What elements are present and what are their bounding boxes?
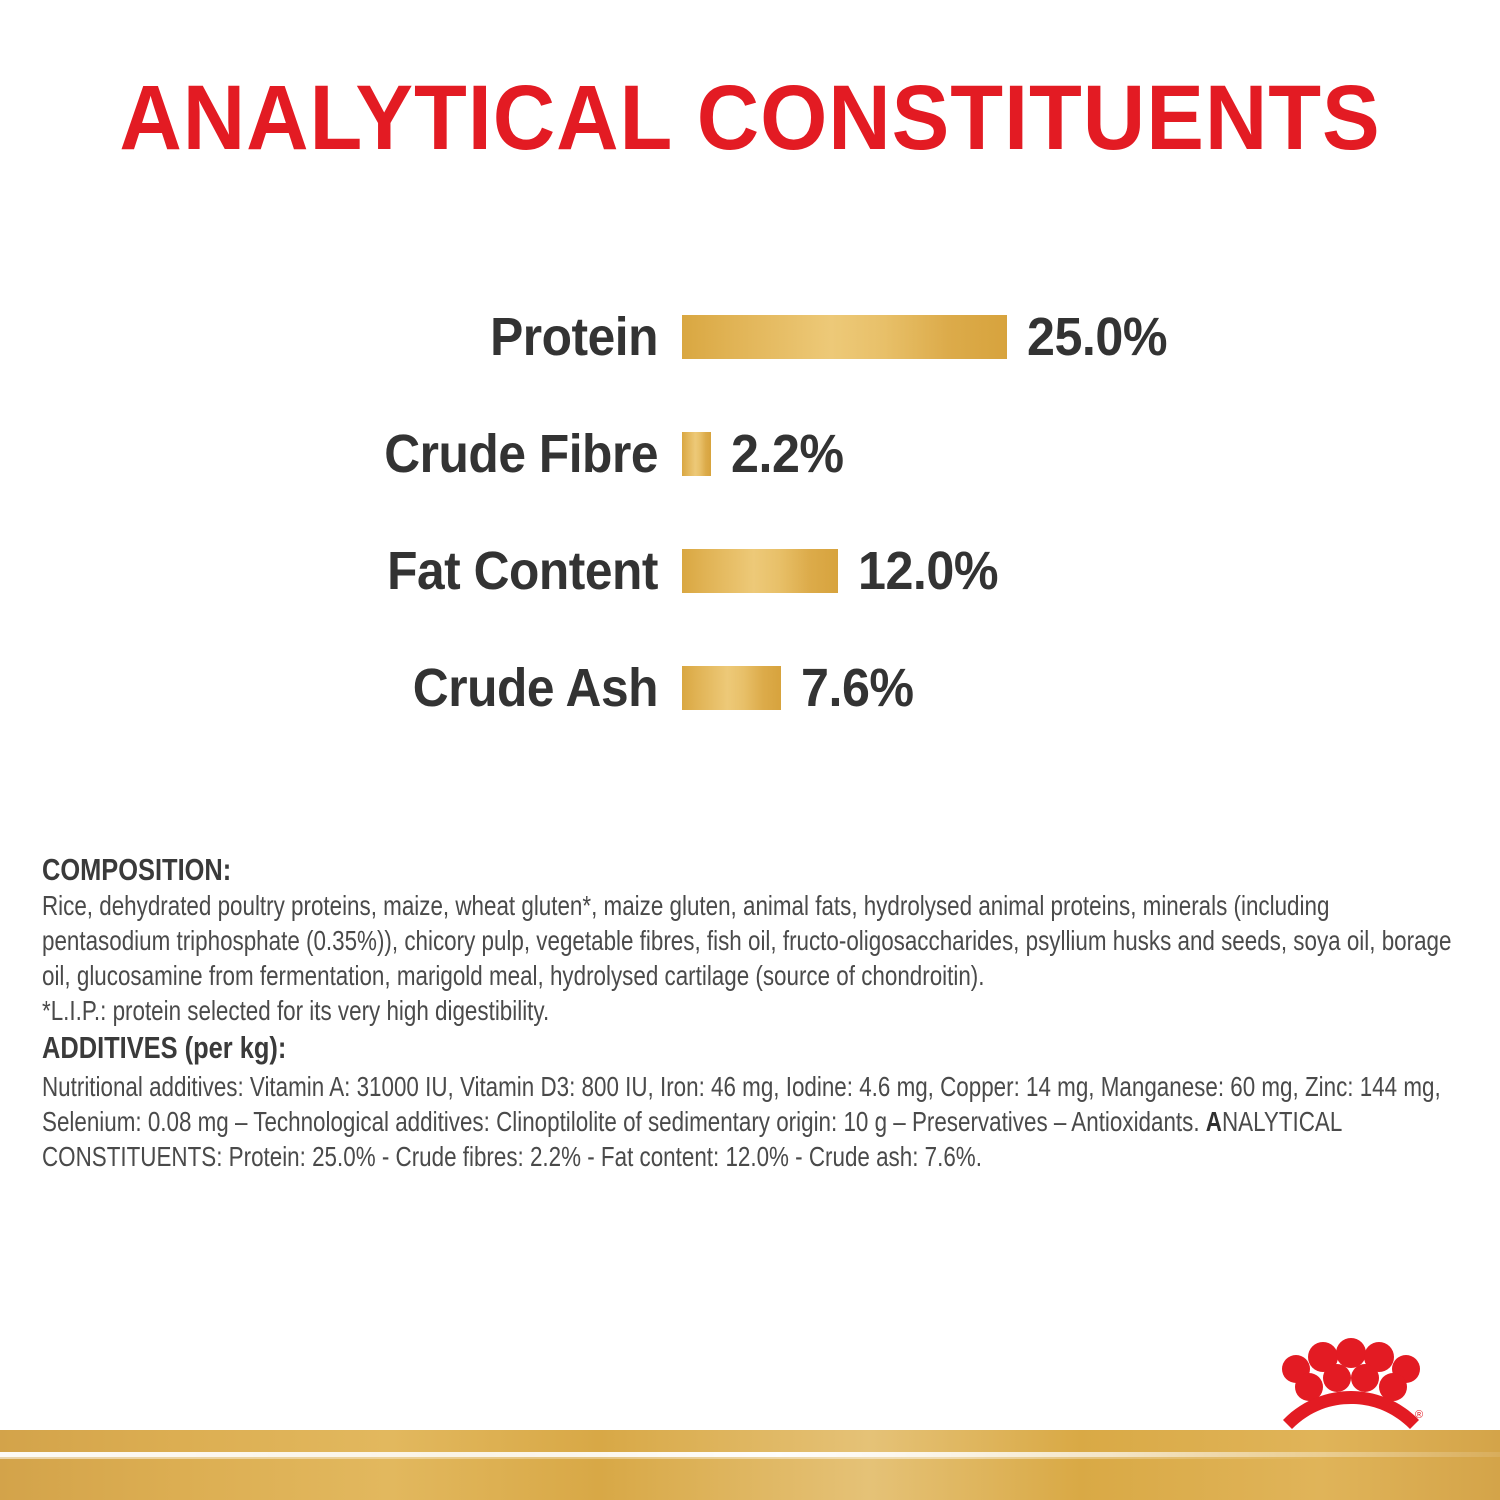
constituent-value-crude-fibre: 2.2% xyxy=(731,427,844,481)
constituent-bar-wrap: 12.0% xyxy=(682,544,1009,598)
lip-footnote: *L.I.P.: protein selected for its very h… xyxy=(42,993,1452,1028)
composition-heading: COMPOSITION: xyxy=(42,852,1453,888)
product-info-text: COMPOSITION: Rice, dehydrated poultry pr… xyxy=(42,852,1452,1174)
constituent-bar-wrap: 25.0% xyxy=(682,310,1178,364)
constituent-row: Crude Fibre 2.2% xyxy=(0,395,1500,512)
constituent-value-fat-content: 12.0% xyxy=(858,544,998,598)
constituent-row: Protein 25.0% xyxy=(0,278,1500,395)
registered-trademark-mark: ® xyxy=(1415,1409,1423,1421)
crown-icon: ® xyxy=(1276,1336,1426,1432)
constituent-row: Crude Ash 7.6% xyxy=(0,629,1500,746)
additives-capital-lead: A xyxy=(1206,1106,1222,1137)
constituent-bar-crude-fibre xyxy=(682,432,711,476)
royal-canin-crown-logo: ® xyxy=(1276,1336,1426,1432)
page-title: ANALYTICAL CONSTITUENTS xyxy=(45,72,1455,164)
constituent-bar-fat-content xyxy=(682,549,838,593)
constituent-bar-wrap: 7.6% xyxy=(682,661,922,715)
additives-body: Nutritional additives: Vitamin A: 31000 … xyxy=(42,1069,1452,1174)
constituent-label-crude-ash: Crude Ash xyxy=(53,661,658,715)
constituent-row: Fat Content 12.0% xyxy=(0,512,1500,629)
additives-heading: ADDITIVES (per kg): xyxy=(42,1030,1453,1066)
constituent-value-protein: 25.0% xyxy=(1027,310,1167,364)
constituent-bar-wrap: 2.2% xyxy=(682,427,852,481)
composition-body: Rice, dehydrated poultry proteins, maize… xyxy=(42,888,1452,993)
constituent-bar-protein xyxy=(682,315,1007,359)
constituent-label-crude-fibre: Crude Fibre xyxy=(53,427,658,481)
constituent-bar-crude-ash xyxy=(682,666,781,710)
constituent-label-protein: Protein xyxy=(53,310,658,364)
analytical-constituents-chart: Protein 25.0% Crude Fibre 2.2% Fat Conte… xyxy=(0,278,1500,746)
band-brush-stroke-secondary xyxy=(0,1457,1340,1459)
constituent-value-crude-ash: 7.6% xyxy=(801,661,914,715)
bottom-gold-band xyxy=(0,1430,1500,1500)
constituent-label-fat-content: Fat Content xyxy=(53,544,658,598)
